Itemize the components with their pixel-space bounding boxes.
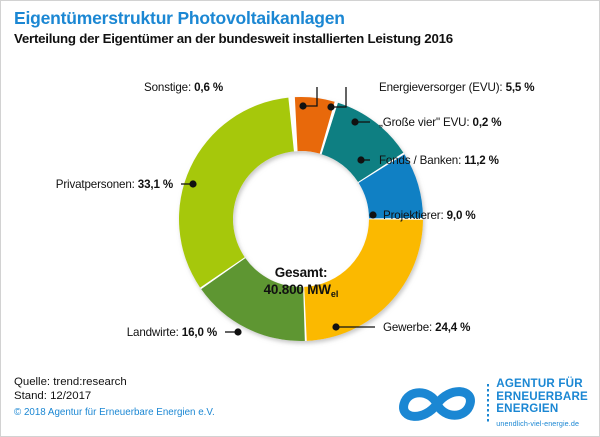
leader-dot	[351, 118, 358, 125]
copyright-line: © 2018 Agentur für Erneuerbare Energien …	[14, 406, 215, 420]
header: Eigentümerstruktur Photovoltaikanlagen V…	[14, 8, 588, 47]
logo-line-1: AGENTUR FÜR	[496, 378, 588, 391]
callout-label: Gewerbe:	[383, 321, 435, 334]
callout-label: Energieversorger (EVU):	[379, 81, 506, 94]
infinity-logo-icon	[394, 383, 480, 425]
callout-value: 24,4 %	[435, 321, 470, 334]
source-block: Quelle: trend:research Stand: 12/2017 © …	[14, 376, 215, 420]
leader-dot	[234, 328, 241, 335]
callout-value: 16,0 %	[182, 326, 217, 339]
donut-slice[interactable]	[179, 98, 294, 288]
callout-value: 9,0 %	[447, 209, 476, 222]
page-subtitle: Verteilung der Eigentümer an der bundesw…	[14, 30, 588, 47]
leader-dot	[189, 180, 196, 187]
callout-energieversorger-evu: Energieversorger (EVU): 5,5 %	[379, 81, 534, 94]
callout-fonds-banken: Fonds / Banken: 11,2 %	[379, 154, 499, 167]
leader-dot	[357, 156, 364, 163]
page-title: Eigentümerstruktur Photovoltaikanlagen	[14, 8, 588, 28]
donut-chart-svg	[1, 59, 600, 377]
leader-dot	[299, 102, 306, 109]
callout-label: Projektierer:	[383, 209, 447, 222]
callout-projektierer: Projektierer: 9,0 %	[383, 209, 476, 222]
center-total-unit-subscript: el	[331, 289, 339, 299]
callout-label: Landwirte:	[127, 326, 182, 339]
center-total-value: 40.800 MWel	[229, 281, 373, 300]
callout-label: Sonstige:	[144, 81, 194, 94]
callout-gewerbe: Gewerbe: 24,4 %	[383, 321, 470, 334]
callout-sonstige: Sonstige: 0,6 %	[144, 81, 223, 94]
date-line: Stand: 12/2017	[14, 390, 215, 404]
center-total: Gesamt: 40.800 MWel	[229, 264, 373, 300]
leader-dot	[332, 323, 339, 330]
callout-label: „Große vier" EVU:	[379, 116, 473, 129]
callout-gro-e-vier-evu: „Große vier" EVU: 0,2 %	[379, 116, 501, 129]
infographic-page: Eigentümerstruktur Photovoltaikanlagen V…	[0, 0, 600, 437]
callout-label: Fonds / Banken:	[379, 154, 464, 167]
callout-value: 33,1 %	[138, 178, 173, 191]
logo-line-3: ENERGIEN	[496, 403, 588, 416]
agency-logo: AGENTUR FÜR ERNEUERBARE ENERGIEN unendli…	[394, 378, 588, 430]
callout-value: 11,2 %	[464, 154, 499, 167]
footer: Quelle: trend:research Stand: 12/2017 © …	[14, 376, 588, 428]
center-total-number: 40.800 MW	[264, 282, 331, 297]
logo-url: unendlich-viel-energie.de	[496, 418, 588, 431]
callout-privatpersonen: Privatpersonen: 33,1 %	[56, 178, 173, 191]
leader-dot	[327, 103, 334, 110]
callout-value: 0,6 %	[194, 81, 223, 94]
callout-landwirte: Landwirte: 16,0 %	[127, 326, 217, 339]
logo-text: AGENTUR FÜR ERNEUERBARE ENERGIEN unendli…	[496, 378, 588, 430]
logo-divider	[487, 384, 489, 424]
leader-dot	[369, 211, 376, 218]
source-line: Quelle: trend:research	[14, 376, 215, 390]
callout-value: 5,5 %	[506, 81, 535, 94]
center-total-label: Gesamt:	[229, 264, 373, 281]
callout-value: 0,2 %	[473, 116, 502, 129]
callout-label: Privatpersonen:	[56, 178, 138, 191]
donut-chart: Gesamt: 40.800 MWel Sonstige: 0,6 %Energ…	[1, 59, 600, 377]
